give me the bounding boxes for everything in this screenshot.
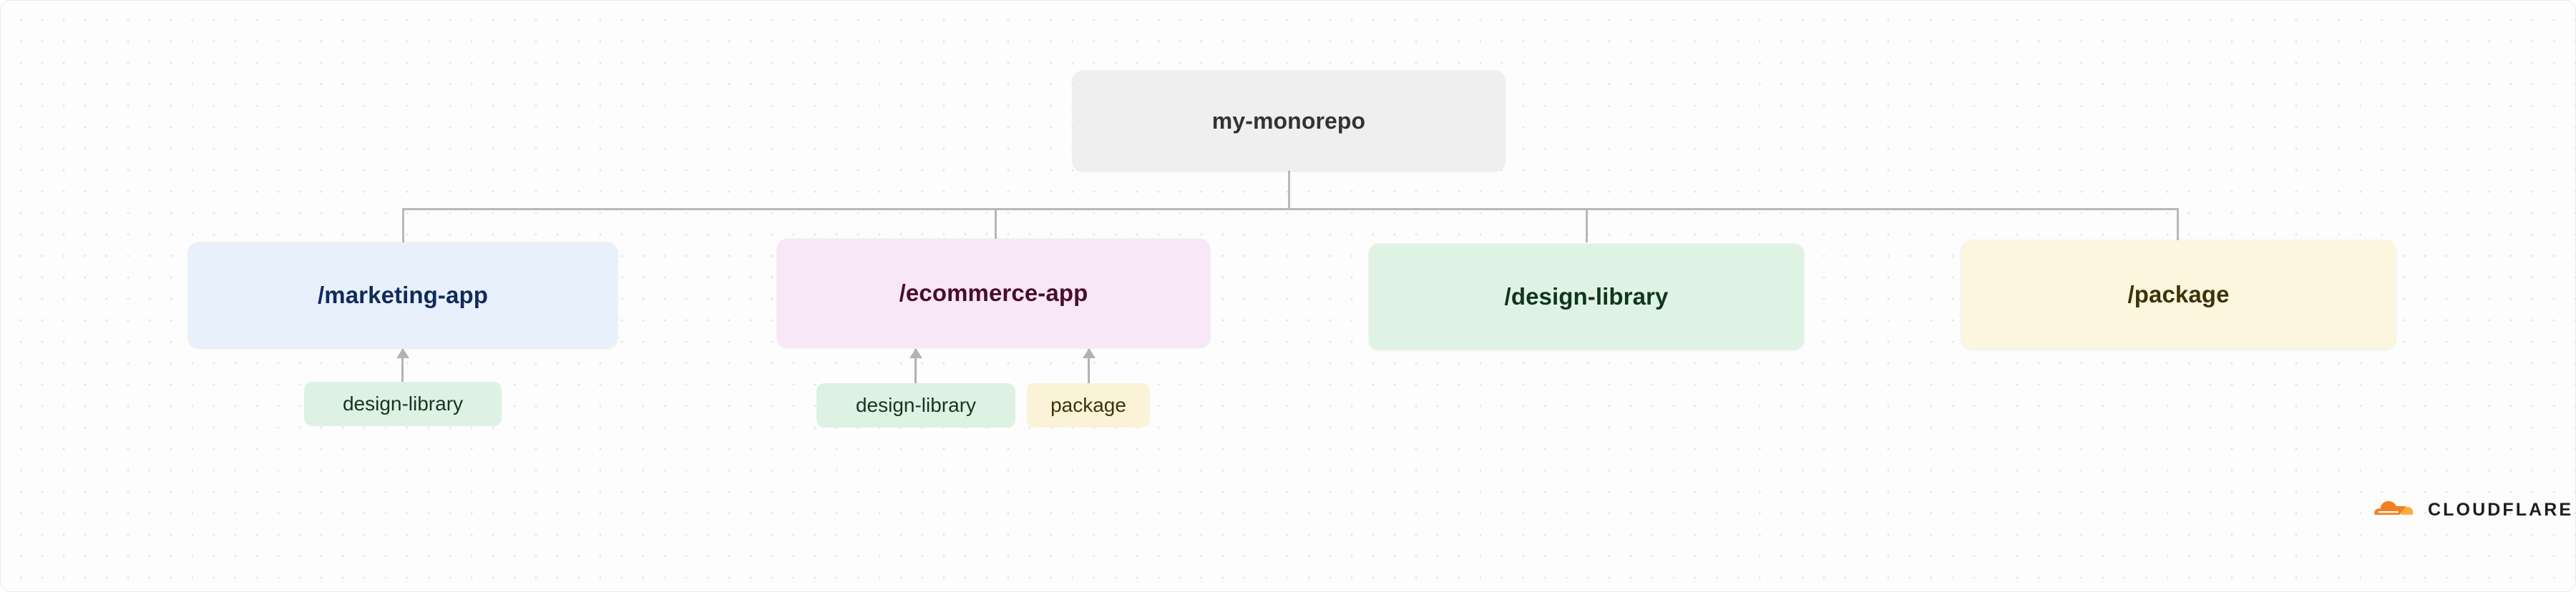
cloudflare-wordmark: CLOUDFLARE	[2428, 500, 2573, 521]
node-label: /marketing-app	[318, 282, 488, 309]
dependency-chip-label: design-library	[343, 393, 463, 415]
node-package[interactable]: /package	[1961, 240, 2396, 349]
node-ecommerce-app[interactable]: /ecommerce-app	[777, 239, 1210, 347]
dependency-chip-label: package	[1050, 394, 1126, 417]
cloudflare-logo: CLOUDFLARE	[2366, 494, 2573, 526]
diagram-canvas: my-monorepo /marketing-app /ecommerce-ap…	[0, 0, 2576, 592]
node-label: /design-library	[1505, 283, 1669, 310]
node-label: my-monorepo	[1212, 108, 1365, 134]
dependency-chip-label: design-library	[856, 394, 976, 417]
dependency-chip-design-library-ecommerce[interactable]: design-library	[816, 383, 1015, 428]
dependency-chip-design-library-marketing[interactable]: design-library	[304, 382, 502, 426]
dependency-arrow-ecommerce-design-library	[914, 349, 917, 383]
connector-to-ecommerce-app	[995, 208, 997, 242]
connector-to-marketing-app	[402, 208, 404, 242]
node-label: /ecommerce-app	[899, 280, 1088, 307]
node-design-library[interactable]: /design-library	[1369, 244, 1804, 350]
node-marketing-app[interactable]: /marketing-app	[188, 242, 618, 348]
connector-to-design-library	[1586, 208, 1588, 242]
dependency-chip-package-ecommerce[interactable]: package	[1027, 383, 1150, 428]
cloudflare-cloud-icon	[2366, 494, 2419, 526]
node-my-monorepo[interactable]: my-monorepo	[1073, 71, 1505, 171]
dependency-arrow-marketing-design-library	[401, 349, 404, 382]
node-label: /package	[2127, 281, 2229, 308]
connector-horizontal-bus	[402, 208, 2178, 210]
dependency-arrow-ecommerce-package	[1088, 349, 1090, 383]
connector-to-package	[2177, 208, 2179, 242]
